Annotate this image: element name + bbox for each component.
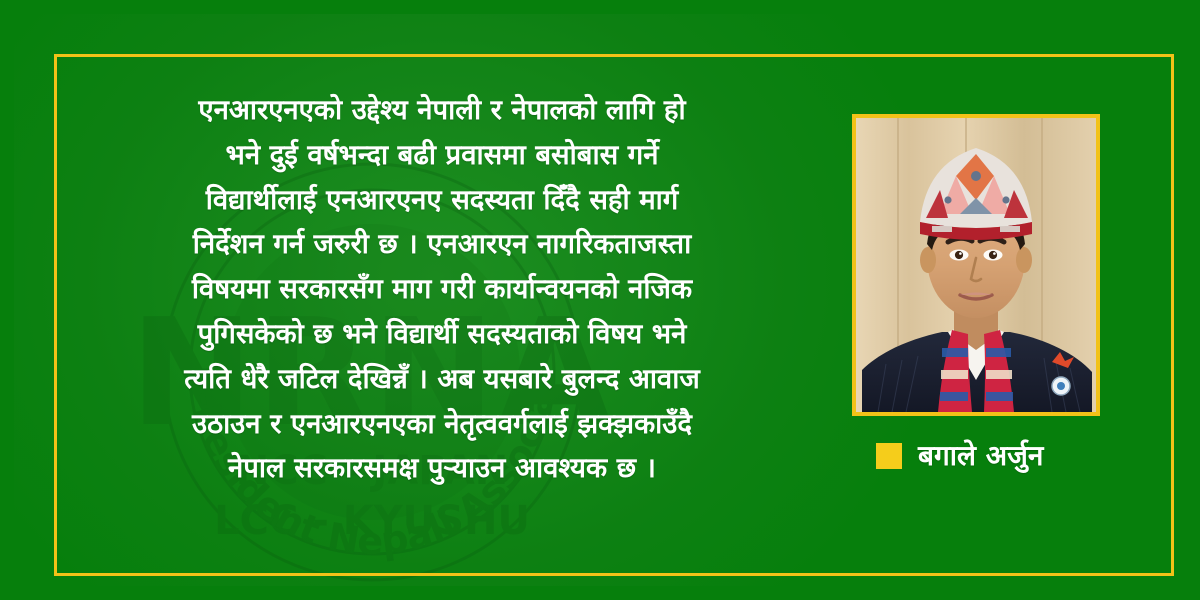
bullet-square-icon — [876, 443, 902, 469]
byline: बगाले अर्जुन — [876, 442, 1043, 470]
quote-line: एनआरएनएको उद्देश्य नेपाली र नेपालको लागि… — [66, 88, 818, 133]
quote-card: NRNA NCC - JAPAN LCC - KYUSHU Non-Reside… — [0, 0, 1200, 600]
author-name: बगाले अर्जुन — [918, 442, 1043, 470]
quote-line: त्यति धेरै जटिल देखिन्नँ । अब यसबारे बुल… — [66, 357, 818, 402]
quote-line: विद्यार्थीलाई एनआरएनए सदस्यता दिँदै सही … — [66, 178, 818, 223]
quote-line: निर्देशन गर्न जरुरी छ । एनआरएन नागरिकताज… — [66, 222, 818, 267]
card-inner-panel: NRNA NCC - JAPAN LCC - KYUSHU Non-Reside… — [14, 14, 1186, 586]
portrait-photo — [852, 114, 1100, 416]
quote-text: एनआरएनएको उद्देश्य नेपाली र नेपालको लागि… — [66, 88, 818, 491]
quote-line: पुगिसकेको छ भने विद्यार्थी सदस्यताको विष… — [66, 312, 818, 357]
svg-text:LCC - KYUSHU: LCC - KYUSHU — [214, 498, 530, 544]
quote-line: भने दुई वर्षभन्दा बढी प्रवासमा बसोबास गर… — [66, 133, 818, 178]
quote-line: विषयमा सरकारसँग माग गरी कार्यान्वयनको नज… — [66, 267, 818, 312]
quote-line: नेपाल सरकारसमक्ष पुऱ्याउन आवश्यक छ । — [66, 446, 818, 491]
quote-line: उठाउन र एनआरएनएका नेतृत्ववर्गलाई झक्झकाउ… — [66, 402, 818, 447]
